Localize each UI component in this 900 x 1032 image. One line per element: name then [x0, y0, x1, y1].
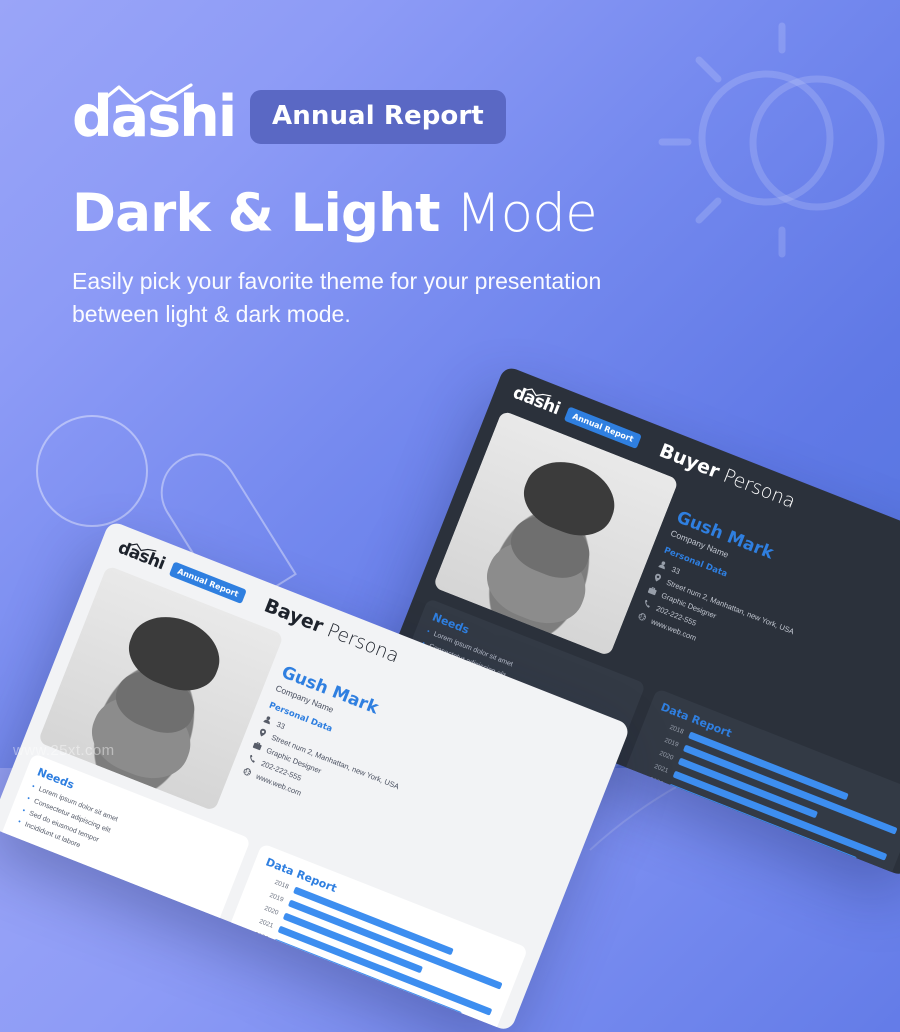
squiggle-icon — [101, 83, 193, 107]
hero-copy: dashi Annual Report Dark & Light Mode Ea… — [72, 88, 692, 330]
dashi-logo: dashi — [72, 88, 232, 146]
brand-row: dashi Annual Report — [72, 88, 692, 146]
chart-tick-label: 2022 — [239, 925, 269, 943]
user-icon — [263, 715, 273, 725]
pin-icon — [257, 728, 267, 738]
phone-icon — [642, 599, 652, 609]
annual-report-badge[interactable]: Annual Report — [250, 90, 506, 144]
headline-strong: Dark & Light — [72, 183, 440, 244]
globe-icon — [637, 612, 647, 622]
phone-icon — [247, 754, 257, 764]
headline-light: Mode — [440, 183, 597, 244]
user-icon — [658, 560, 668, 570]
pin-icon — [652, 573, 662, 583]
list-item-label: 33 — [670, 564, 681, 575]
site-watermark: www.25xt.com — [13, 742, 115, 759]
case-icon — [252, 741, 262, 751]
case-icon — [647, 586, 657, 596]
list-item-label: 33 — [275, 719, 286, 730]
globe-icon — [242, 767, 252, 777]
subheadline: Easily pick your favorite theme for your… — [72, 265, 602, 330]
page-title: Dark & Light Mode — [72, 186, 692, 241]
chart-tick-label: 2022 — [634, 770, 664, 788]
